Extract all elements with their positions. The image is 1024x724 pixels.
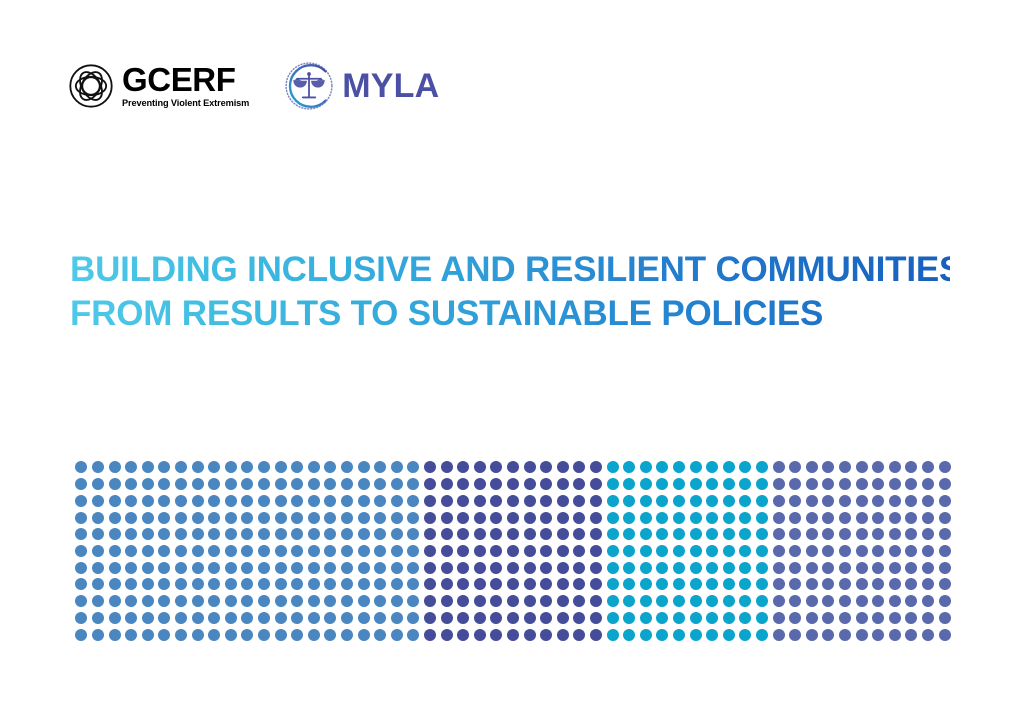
pattern-dot	[125, 461, 137, 473]
pattern-dot	[225, 461, 237, 473]
dot-pattern-row	[73, 559, 953, 576]
pattern-dot	[524, 512, 536, 524]
pattern-dot	[856, 495, 868, 507]
pattern-dot	[706, 512, 718, 524]
pattern-dot	[573, 545, 585, 557]
pattern-dot	[441, 578, 453, 590]
pattern-dot	[723, 612, 735, 624]
pattern-dot	[806, 495, 818, 507]
pattern-dot	[407, 578, 419, 590]
pattern-dot	[872, 495, 884, 507]
pattern-dot	[192, 512, 204, 524]
pattern-dot	[275, 595, 287, 607]
pattern-dot	[424, 629, 436, 641]
pattern-dot	[457, 562, 469, 574]
pattern-dot	[673, 562, 685, 574]
pattern-dot	[241, 512, 253, 524]
pattern-dot	[407, 461, 419, 473]
pattern-dot	[822, 478, 834, 490]
pattern-dot	[92, 461, 104, 473]
pattern-dot	[324, 461, 336, 473]
pattern-dot	[607, 528, 619, 540]
pattern-dot	[922, 595, 934, 607]
pattern-dot	[573, 562, 585, 574]
pattern-dot	[142, 512, 154, 524]
pattern-dot	[557, 528, 569, 540]
pattern-dot	[806, 595, 818, 607]
pattern-dot	[540, 578, 552, 590]
pattern-dot	[806, 461, 818, 473]
pattern-dot	[374, 461, 386, 473]
pattern-dot	[723, 578, 735, 590]
pattern-dot	[291, 629, 303, 641]
pattern-dot	[424, 512, 436, 524]
pattern-dot	[607, 495, 619, 507]
pattern-dot	[856, 461, 868, 473]
pattern-dot	[407, 545, 419, 557]
pattern-dot	[856, 629, 868, 641]
pattern-dot	[656, 478, 668, 490]
pattern-dot	[590, 595, 602, 607]
pattern-dot	[806, 512, 818, 524]
pattern-dot	[374, 578, 386, 590]
pattern-dot	[441, 595, 453, 607]
pattern-dot	[756, 461, 768, 473]
pattern-dot	[308, 612, 320, 624]
pattern-dot	[540, 629, 552, 641]
pattern-dot	[391, 478, 403, 490]
logo-bar: GCERF Preventing Violent Extremism	[68, 55, 439, 117]
pattern-dot	[590, 461, 602, 473]
pattern-dot	[690, 612, 702, 624]
pattern-dot	[225, 595, 237, 607]
pattern-dot	[407, 595, 419, 607]
pattern-dot	[457, 545, 469, 557]
pattern-dot	[75, 562, 87, 574]
pattern-dot	[905, 512, 917, 524]
pattern-dot	[192, 562, 204, 574]
pattern-dot	[557, 629, 569, 641]
pattern-dot	[225, 562, 237, 574]
pattern-dot	[557, 461, 569, 473]
pattern-dot	[524, 461, 536, 473]
pattern-dot	[258, 578, 270, 590]
pattern-dot	[75, 612, 87, 624]
dot-pattern-row	[73, 576, 953, 593]
pattern-dot	[291, 461, 303, 473]
pattern-dot	[125, 495, 137, 507]
pattern-dot	[756, 478, 768, 490]
pattern-dot	[258, 612, 270, 624]
dot-pattern-row	[73, 593, 953, 610]
pattern-dot	[75, 595, 87, 607]
pattern-dot	[358, 545, 370, 557]
page-title-line-1: BUILDING INCLUSIVE AND RESILIENT COMMUNI…	[70, 248, 950, 292]
pattern-dot	[275, 478, 287, 490]
pattern-dot	[656, 461, 668, 473]
pattern-dot	[125, 612, 137, 624]
pattern-dot	[939, 629, 951, 641]
pattern-dot	[524, 495, 536, 507]
pattern-dot	[656, 545, 668, 557]
pattern-dot	[789, 562, 801, 574]
pattern-dot	[324, 578, 336, 590]
pattern-dot	[756, 612, 768, 624]
pattern-dot	[308, 495, 320, 507]
pattern-dot	[109, 478, 121, 490]
pattern-dot	[939, 495, 951, 507]
pattern-dot	[640, 528, 652, 540]
pattern-dot	[474, 512, 486, 524]
pattern-dot	[623, 595, 635, 607]
pattern-dot	[590, 528, 602, 540]
pattern-dot	[291, 578, 303, 590]
pattern-dot	[109, 528, 121, 540]
pattern-dot	[706, 495, 718, 507]
pattern-dot	[92, 528, 104, 540]
pattern-dot	[822, 461, 834, 473]
pattern-dot	[939, 478, 951, 490]
pattern-dot	[673, 595, 685, 607]
pattern-dot	[524, 612, 536, 624]
pattern-dot	[457, 578, 469, 590]
pattern-dot	[822, 528, 834, 540]
pattern-dot	[324, 629, 336, 641]
dot-pattern-row	[73, 543, 953, 560]
pattern-dot	[723, 562, 735, 574]
pattern-dot	[806, 478, 818, 490]
pattern-dot	[557, 578, 569, 590]
pattern-dot	[623, 528, 635, 540]
pattern-dot	[640, 495, 652, 507]
pattern-dot	[241, 578, 253, 590]
pattern-dot	[324, 612, 336, 624]
pattern-dot	[457, 612, 469, 624]
pattern-dot	[557, 562, 569, 574]
pattern-dot	[275, 612, 287, 624]
pattern-dot	[507, 595, 519, 607]
pattern-dot	[590, 612, 602, 624]
pattern-dot	[358, 461, 370, 473]
pattern-dot	[540, 528, 552, 540]
pattern-dot	[773, 512, 785, 524]
pattern-dot	[92, 612, 104, 624]
pattern-dot	[623, 461, 635, 473]
pattern-dot	[192, 595, 204, 607]
pattern-dot	[341, 545, 353, 557]
pattern-dot	[208, 478, 220, 490]
pattern-dot	[673, 612, 685, 624]
pattern-dot	[756, 629, 768, 641]
dot-pattern-row	[73, 459, 953, 476]
pattern-dot	[856, 512, 868, 524]
pattern-dot	[457, 495, 469, 507]
pattern-dot	[540, 595, 552, 607]
pattern-dot	[839, 562, 851, 574]
pattern-dot	[75, 512, 87, 524]
pattern-dot	[341, 612, 353, 624]
pattern-dot	[839, 478, 851, 490]
pattern-dot	[640, 478, 652, 490]
pattern-dot	[872, 478, 884, 490]
pattern-dot	[424, 495, 436, 507]
pattern-dot	[241, 461, 253, 473]
pattern-dot	[690, 528, 702, 540]
pattern-dot	[773, 629, 785, 641]
pattern-dot	[324, 512, 336, 524]
pattern-dot	[490, 495, 502, 507]
pattern-dot	[341, 512, 353, 524]
pattern-dot	[374, 562, 386, 574]
pattern-dot	[573, 629, 585, 641]
pattern-dot	[889, 562, 901, 574]
pattern-dot	[109, 629, 121, 641]
pattern-dot	[905, 595, 917, 607]
pattern-dot	[656, 562, 668, 574]
pattern-dot	[324, 528, 336, 540]
pattern-dot	[358, 612, 370, 624]
pattern-dot	[806, 578, 818, 590]
pattern-dot	[225, 629, 237, 641]
pattern-dot	[208, 629, 220, 641]
pattern-dot	[739, 578, 751, 590]
dot-pattern-row	[73, 476, 953, 493]
pattern-dot	[192, 461, 204, 473]
pattern-dot	[258, 629, 270, 641]
pattern-dot	[856, 478, 868, 490]
pattern-dot	[939, 528, 951, 540]
pattern-dot	[474, 478, 486, 490]
pattern-dot	[872, 461, 884, 473]
pattern-dot	[706, 595, 718, 607]
pattern-dot	[374, 528, 386, 540]
pattern-dot	[723, 528, 735, 540]
pattern-dot	[241, 495, 253, 507]
dot-pattern-row	[73, 526, 953, 543]
pattern-dot	[822, 562, 834, 574]
pattern-dot	[125, 478, 137, 490]
pattern-dot	[407, 495, 419, 507]
pattern-dot	[590, 562, 602, 574]
pattern-dot	[739, 612, 751, 624]
pattern-dot	[540, 461, 552, 473]
pattern-dot	[656, 578, 668, 590]
pattern-dot	[889, 629, 901, 641]
pattern-dot	[109, 495, 121, 507]
pattern-dot	[175, 545, 187, 557]
pattern-dot	[441, 528, 453, 540]
pattern-dot	[391, 461, 403, 473]
pattern-dot	[391, 512, 403, 524]
pattern-dot	[507, 562, 519, 574]
pattern-dot	[192, 612, 204, 624]
pattern-dot	[374, 478, 386, 490]
pattern-dot	[690, 545, 702, 557]
pattern-dot	[872, 545, 884, 557]
pattern-dot	[424, 562, 436, 574]
pattern-dot	[773, 461, 785, 473]
pattern-dot	[756, 562, 768, 574]
pattern-dot	[241, 545, 253, 557]
pattern-dot	[208, 562, 220, 574]
pattern-dot	[225, 478, 237, 490]
pattern-dot	[474, 545, 486, 557]
pattern-dot	[341, 478, 353, 490]
pattern-dot	[324, 495, 336, 507]
pattern-dot	[358, 478, 370, 490]
pattern-dot	[889, 595, 901, 607]
pattern-dot	[424, 612, 436, 624]
pattern-dot	[109, 545, 121, 557]
pattern-dot	[158, 629, 170, 641]
pattern-dot	[225, 578, 237, 590]
pattern-dot	[457, 512, 469, 524]
pattern-dot	[839, 578, 851, 590]
pattern-dot	[723, 595, 735, 607]
pattern-dot	[557, 595, 569, 607]
pattern-dot	[723, 545, 735, 557]
pattern-dot	[557, 478, 569, 490]
pattern-dot	[308, 478, 320, 490]
pattern-dot	[457, 461, 469, 473]
pattern-dot	[739, 545, 751, 557]
pattern-dot	[939, 562, 951, 574]
pattern-dot	[856, 562, 868, 574]
pattern-dot	[706, 478, 718, 490]
pattern-dot	[822, 545, 834, 557]
pattern-dot	[441, 562, 453, 574]
pattern-dot	[590, 578, 602, 590]
pattern-dot	[109, 512, 121, 524]
pattern-dot	[856, 612, 868, 624]
pattern-dot	[623, 629, 635, 641]
pattern-dot	[507, 578, 519, 590]
pattern-dot	[922, 528, 934, 540]
pattern-dot	[607, 562, 619, 574]
pattern-dot	[690, 562, 702, 574]
pattern-dot	[856, 545, 868, 557]
pattern-dot	[308, 528, 320, 540]
gcerf-tagline: Preventing Violent Extremism	[122, 99, 249, 108]
pattern-dot	[158, 512, 170, 524]
pattern-dot	[723, 629, 735, 641]
pattern-dot	[573, 461, 585, 473]
pattern-dot	[839, 461, 851, 473]
pattern-dot	[291, 528, 303, 540]
pattern-dot	[540, 545, 552, 557]
pattern-dot	[773, 612, 785, 624]
pattern-dot	[441, 478, 453, 490]
pattern-dot	[640, 612, 652, 624]
pattern-dot	[175, 495, 187, 507]
pattern-dot	[723, 495, 735, 507]
pattern-dot	[640, 629, 652, 641]
pattern-dot	[208, 595, 220, 607]
pattern-dot	[324, 562, 336, 574]
pattern-dot	[524, 578, 536, 590]
pattern-dot	[557, 545, 569, 557]
pattern-dot	[889, 578, 901, 590]
pattern-dot	[673, 528, 685, 540]
pattern-dot	[341, 495, 353, 507]
pattern-dot	[109, 461, 121, 473]
pattern-dot	[673, 461, 685, 473]
pattern-dot	[441, 545, 453, 557]
pattern-dot	[607, 578, 619, 590]
pattern-dot	[291, 495, 303, 507]
pattern-dot	[457, 595, 469, 607]
pattern-dot	[208, 512, 220, 524]
pattern-dot	[839, 595, 851, 607]
pattern-dot	[225, 512, 237, 524]
pattern-dot	[507, 629, 519, 641]
pattern-dot	[474, 578, 486, 590]
pattern-dot	[407, 528, 419, 540]
pattern-dot	[424, 528, 436, 540]
pattern-dot	[656, 495, 668, 507]
pattern-dot	[524, 528, 536, 540]
pattern-dot	[607, 545, 619, 557]
pattern-dot	[308, 595, 320, 607]
pattern-dot	[258, 478, 270, 490]
pattern-dot	[557, 512, 569, 524]
pattern-dot	[125, 595, 137, 607]
pattern-dot	[474, 495, 486, 507]
pattern-dot	[590, 545, 602, 557]
pattern-dot	[905, 461, 917, 473]
pattern-dot	[391, 578, 403, 590]
pattern-dot	[374, 495, 386, 507]
pattern-dot	[308, 461, 320, 473]
pattern-dot	[905, 562, 917, 574]
pattern-dot	[258, 461, 270, 473]
pattern-dot	[623, 545, 635, 557]
pattern-dot	[789, 495, 801, 507]
pattern-dot	[905, 578, 917, 590]
pattern-dot	[656, 512, 668, 524]
pattern-dot	[889, 478, 901, 490]
pattern-dot	[175, 612, 187, 624]
pattern-dot	[175, 528, 187, 540]
pattern-dot	[225, 528, 237, 540]
pattern-dot	[275, 461, 287, 473]
dot-pattern-row	[73, 626, 953, 643]
pattern-dot	[922, 562, 934, 574]
pattern-dot	[573, 578, 585, 590]
pattern-dot	[192, 528, 204, 540]
pattern-dot	[441, 461, 453, 473]
pattern-dot	[789, 478, 801, 490]
pattern-dot	[391, 629, 403, 641]
pattern-dot	[158, 612, 170, 624]
pattern-dot	[939, 545, 951, 557]
pattern-dot	[872, 512, 884, 524]
pattern-dot	[258, 545, 270, 557]
pattern-dot	[291, 512, 303, 524]
pattern-dot	[291, 595, 303, 607]
pattern-dot	[507, 512, 519, 524]
pattern-dot	[524, 478, 536, 490]
pattern-dot	[656, 612, 668, 624]
pattern-dot	[75, 545, 87, 557]
pattern-dot	[92, 478, 104, 490]
pattern-dot	[590, 512, 602, 524]
pattern-dot	[424, 578, 436, 590]
pattern-dot	[573, 612, 585, 624]
pattern-dot	[623, 612, 635, 624]
pattern-dot	[905, 495, 917, 507]
pattern-dot	[474, 612, 486, 624]
